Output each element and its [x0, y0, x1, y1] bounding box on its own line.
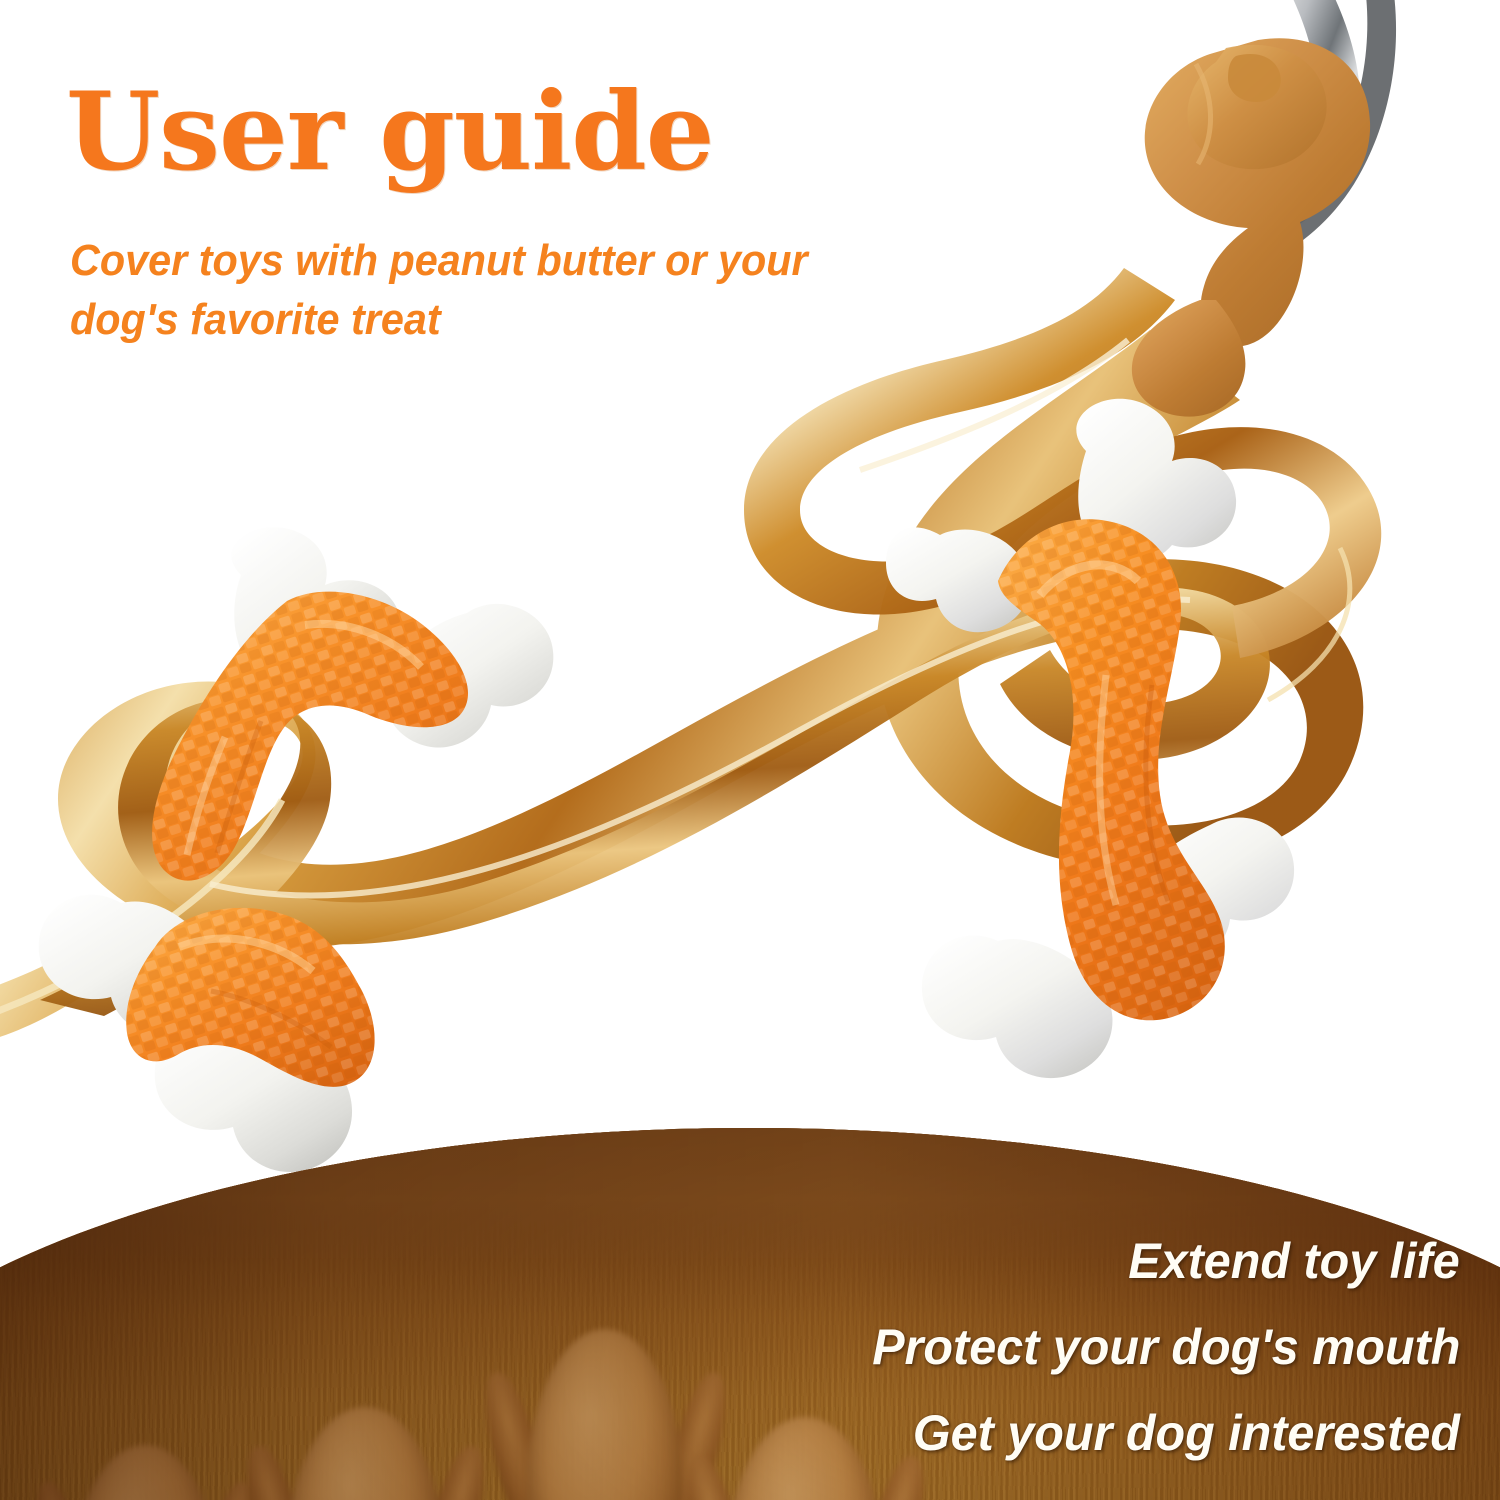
banner-benefit-line-1: Extend toy life	[1129, 1232, 1460, 1290]
poster-canvas: User guide Cover toys with peanut butter…	[0, 0, 1500, 1500]
page-subtitle: Cover toys with peanut butter or your do…	[70, 232, 897, 349]
banner-benefit-line-2: Protect your dog's mouth	[872, 1318, 1460, 1376]
page-title: User guide	[66, 78, 714, 186]
banner-benefit-line-3: Get your dog interested	[913, 1404, 1460, 1462]
spoon-with-peanut-butter	[1132, 0, 1396, 417]
dog-chew-bone-toy-right	[880, 385, 1360, 1105]
